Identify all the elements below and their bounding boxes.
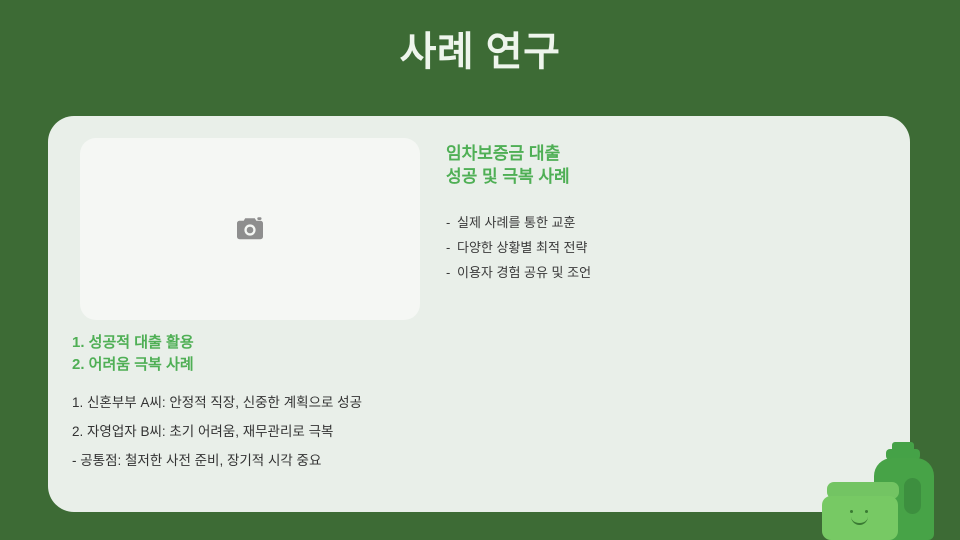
list-item: -실제 사례를 통한 교훈 xyxy=(446,210,876,235)
slide-root: 사례 연구 임차보증금 대출 성공 및 극복 사례 -실제 사례를 통한 교훈 xyxy=(0,0,960,540)
list-item: 1. 신혼부부 A씨: 안정적 직장, 신중한 계획으로 성공 xyxy=(72,388,832,417)
smiley-eye-left-icon xyxy=(850,510,853,513)
image-placeholder[interactable] xyxy=(80,138,420,320)
bullet-text: 다양한 상황별 최적 전략 xyxy=(457,240,587,255)
section-heading-2: 2. 어려움 극복 사례 xyxy=(72,354,572,376)
bullet-text: 실제 사례를 통한 교훈 xyxy=(457,215,575,230)
smiley-mouth-icon xyxy=(851,515,868,525)
smiley-face-icon xyxy=(840,510,880,530)
bullet-marker: - xyxy=(446,260,457,285)
card-heading: 임차보증금 대출 성공 및 극복 사례 xyxy=(446,142,876,188)
bullet-marker: - xyxy=(446,235,457,260)
detergent-bottle-handle-icon xyxy=(904,478,921,514)
camera-icon xyxy=(235,216,265,242)
list-item: - 공통점: 철저한 사전 준비, 장기적 시각 중요 xyxy=(72,446,832,475)
content-card: 임차보증금 대출 성공 및 극복 사례 -실제 사례를 통한 교훈 -다양한 상… xyxy=(48,116,910,512)
list-item: 2. 자영업자 B씨: 초기 어려움, 재무관리로 극복 xyxy=(72,417,832,446)
decorative-illustration xyxy=(816,432,960,540)
list-item: -이용자 경험 공유 및 조언 xyxy=(446,260,876,285)
bullet-text: 이용자 경험 공유 및 조언 xyxy=(457,265,591,280)
card-top-row: 임차보증금 대출 성공 및 극복 사례 -실제 사례를 통한 교훈 -다양한 상… xyxy=(48,116,910,328)
section-heading-1: 1. 성공적 대출 활용 xyxy=(72,332,572,354)
page-title: 사례 연구 xyxy=(0,24,960,80)
heading-bullet-list: -실제 사례를 통한 교훈 -다양한 상황별 최적 전략 -이용자 경험 공유 … xyxy=(446,210,876,285)
bullet-marker: - xyxy=(446,210,457,235)
list-item: -다양한 상황별 최적 전략 xyxy=(446,235,876,260)
heading-column: 임차보증금 대출 성공 및 극복 사례 -실제 사례를 통한 교훈 -다양한 상… xyxy=(446,142,876,285)
detail-list: 1. 신혼부부 A씨: 안정적 직장, 신중한 계획으로 성공 2. 자영업자 … xyxy=(72,388,832,475)
smiley-eye-right-icon xyxy=(865,510,868,513)
section-heading-group: 1. 성공적 대출 활용 2. 어려움 극복 사례 xyxy=(72,332,572,376)
